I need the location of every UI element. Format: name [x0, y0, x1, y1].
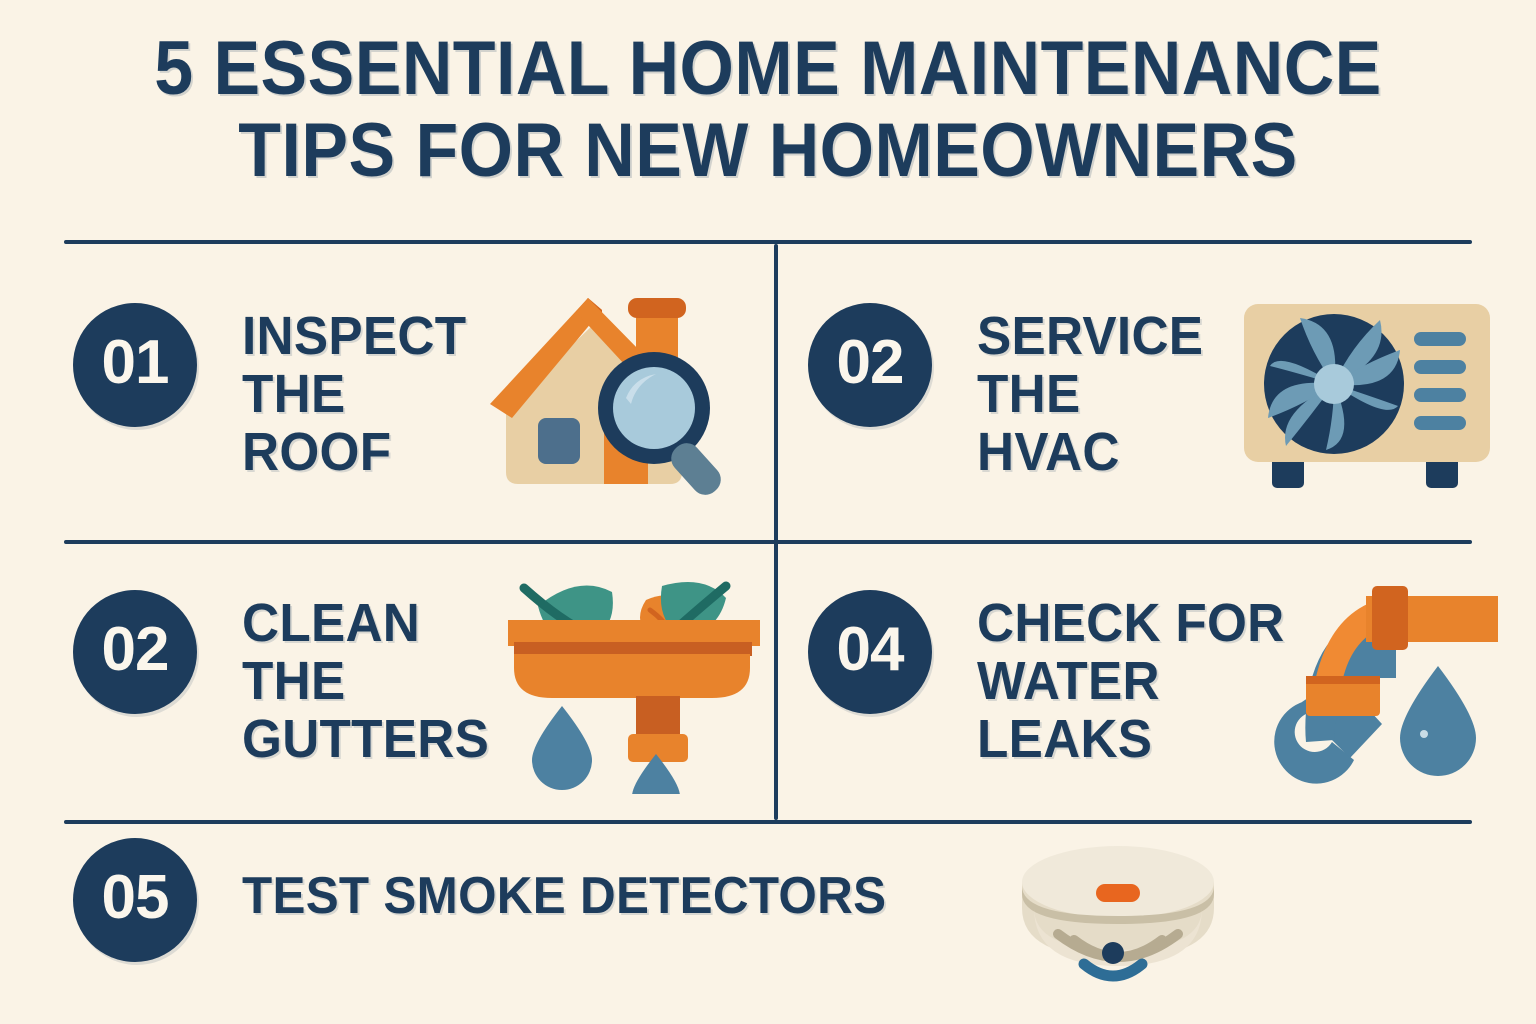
tip-number-01: 01	[102, 332, 169, 394]
tip-label-02: SERVICE THE HVAC	[977, 303, 1203, 481]
tip-label-05: TEST SMOKE DETECTORS	[242, 838, 886, 924]
tip-number-04: 04	[837, 619, 904, 681]
tip-number-badge-03: 02	[73, 590, 197, 714]
tip-number-05: 05	[102, 867, 169, 929]
divider-bottom	[64, 820, 1472, 824]
smoke-detector-icon	[1000, 838, 1240, 1013]
tip-item-05: 05 TEST SMOKE DETECTORS	[73, 838, 920, 962]
tip-item-03: 02 CLEAN THE GUTTERS	[73, 590, 502, 768]
tip-label-01: INSPECT THE ROOF	[242, 303, 466, 481]
tip-item-02: 02 SERVICE THE HVAC	[808, 303, 1215, 481]
title-line-1: 5 ESSENTIAL HOME MAINTENANCE	[120, 28, 1415, 110]
title-line-2: TIPS FOR NEW HOMEOWNERS	[120, 110, 1415, 192]
divider-middle	[64, 540, 1472, 544]
tip-item-01: 01 INSPECT THE ROOF	[73, 303, 478, 481]
divider-top	[64, 240, 1472, 244]
house-magnifier-icon	[476, 272, 756, 509]
hvac-unit-icon	[1238, 288, 1500, 509]
tip-number-03: 02	[102, 619, 169, 681]
tip-number-badge-04: 04	[808, 590, 932, 714]
infographic-canvas: 5 ESSENTIAL HOME MAINTENANCE TIPS FOR NE…	[0, 0, 1536, 1024]
tip-label-04: CHECK FOR WATER LEAKS	[977, 590, 1285, 768]
divider-vertical	[774, 244, 778, 820]
tip-number-badge-05: 05	[73, 838, 197, 962]
tip-number-badge-02: 02	[808, 303, 932, 427]
tip-label-03: CLEAN THE GUTTERS	[242, 590, 489, 768]
page-title: 5 ESSENTIAL HOME MAINTENANCE TIPS FOR NE…	[64, 28, 1472, 192]
tip-item-04: 04 CHECK FOR WATER LEAKS	[808, 590, 1301, 768]
gutter-leaves-icon	[500, 572, 768, 799]
pipe-wrench-leak-icon	[1262, 582, 1508, 803]
tip-number-badge-01: 01	[73, 303, 197, 427]
tip-number-02: 02	[837, 332, 904, 394]
